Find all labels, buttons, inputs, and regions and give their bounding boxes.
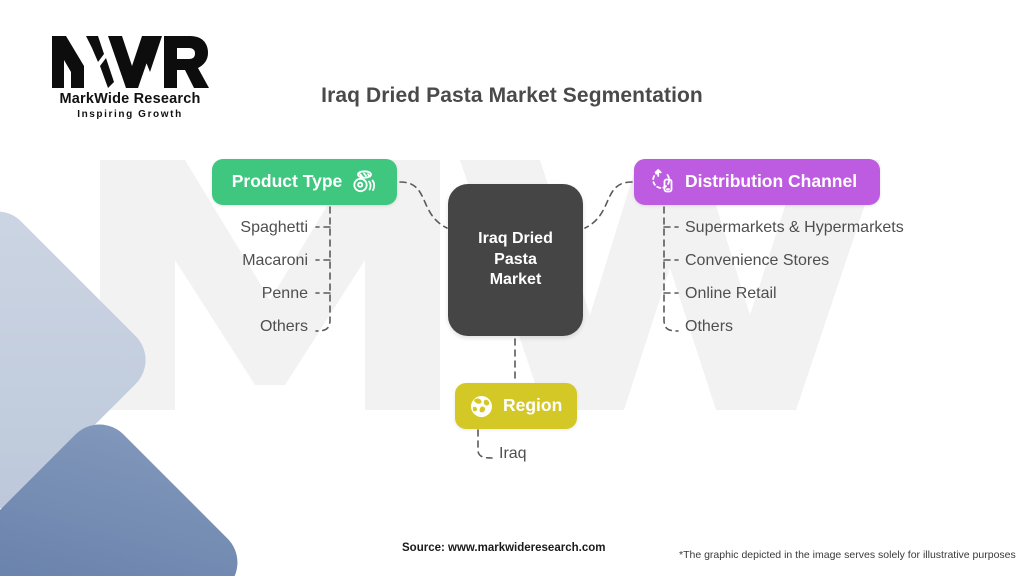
globe-icon [469,394,494,419]
leaf-distribution-channel-4: Others [685,319,733,335]
branch-label-region: Region [503,397,562,415]
infographic-canvas: MarkWide Research Inspiring Growth Iraq … [0,0,1024,576]
brand-tagline: Inspiring Growth [30,109,230,120]
leaf-product-type-4: Others [120,319,308,335]
pasta-bowl-icon [351,170,377,194]
core-label-line-3: Market [490,271,542,288]
branch-label-product-type: Product Type [232,173,343,191]
branch-badge-distribution-channel[interactable]: Distribution Channel [634,159,880,205]
source-text: Source: www.markwideresearch.com [402,542,605,554]
page-title: Iraq Dried Pasta Market Segmentation [0,84,1024,108]
core-node: Iraq Dried Pasta Market [448,184,583,336]
mwr-logo-icon [50,32,210,90]
branch-label-distribution-channel: Distribution Channel [685,173,857,191]
leaf-distribution-channel-1: Supermarkets & Hypermarkets [685,220,904,236]
decor-square-light [0,197,160,522]
core-label-line-2: Pasta [494,251,537,268]
decor-square-dark [0,410,252,576]
leaf-product-type-3: Penne [120,286,308,302]
disclaimer-text: *The graphic depicted in the image serve… [679,549,1016,561]
leaf-product-type-2: Macaroni [120,253,308,269]
leaf-product-type-1: Spaghetti [120,220,308,236]
branch-badge-product-type[interactable]: Product Type [212,159,397,205]
distribution-device-icon [650,169,676,195]
leaf-distribution-channel-3: Online Retail [685,286,777,302]
leaf-region-1: Iraq [499,446,527,462]
core-node-label: Iraq Dried Pasta Market [478,229,553,290]
branch-badge-region[interactable]: Region [455,383,577,429]
core-label-line-1: Iraq Dried [478,230,553,247]
leaf-distribution-channel-2: Convenience Stores [685,253,829,269]
